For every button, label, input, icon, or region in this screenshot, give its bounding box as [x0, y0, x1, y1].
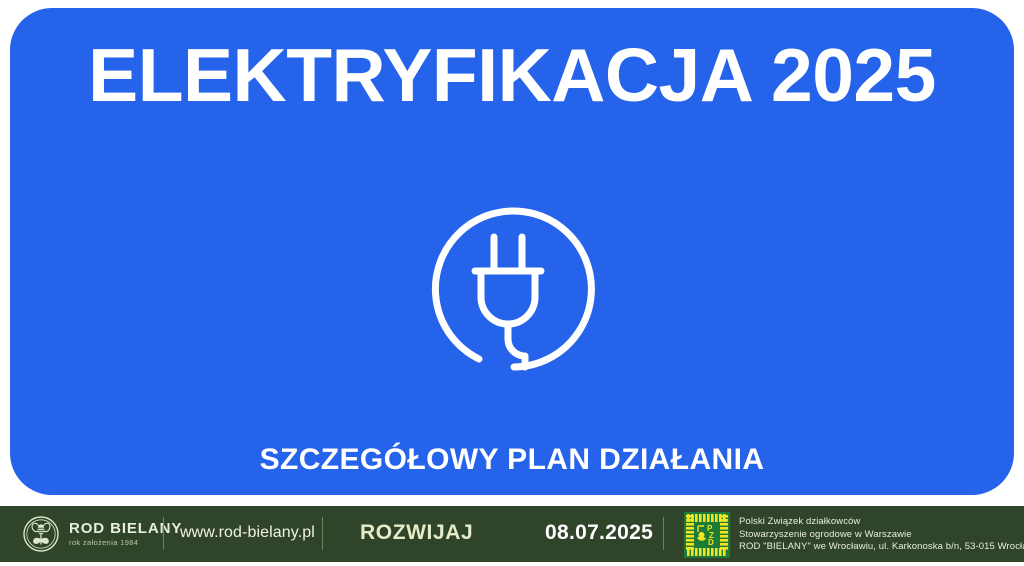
- slide-canvas: ELEKTRYFIKACJA 2025 SZCZEGÓŁOWY PLAN DZI…: [0, 0, 1024, 566]
- svg-text:D: D: [708, 538, 714, 547]
- footer-keyword: ROZWIJAJ: [360, 521, 473, 545]
- power-plug-icon: [417, 189, 607, 379]
- pzd-org-block: P Z D Polski Związek działkowców Stowarz…: [684, 512, 1024, 558]
- org-line-3: ROD "BIELANY" we Wrocławiu, ul. Karkonos…: [739, 541, 1024, 554]
- hero-icon-container: [10, 186, 1014, 382]
- pzd-logo-icon: P Z D: [684, 512, 730, 558]
- org-line-1: Polski Związek działkowców: [739, 516, 1024, 529]
- rod-bielany-brand: ROD BIELANY rok założenia 1984: [22, 514, 182, 554]
- footer-divider-2: [322, 517, 323, 550]
- page-subtitle: SZCZEGÓŁOWY PLAN DZIAŁANIA: [10, 440, 1014, 480]
- footer-date: 08.07.2025: [545, 521, 653, 545]
- brand-name: ROD BIELANY: [69, 521, 182, 536]
- website-url[interactable]: www.rod-bielany.pl: [180, 524, 315, 542]
- footer-divider-3: [663, 517, 664, 550]
- footer-divider-1: [163, 517, 164, 550]
- org-line-2: Stowarzyszenie ogrodowe w Warszawie: [739, 529, 1024, 542]
- brand-tagline: rok założenia 1984: [69, 539, 182, 547]
- main-blue-panel: ELEKTRYFIKACJA 2025 SZCZEGÓŁOWY PLAN DZI…: [10, 8, 1014, 495]
- page-title: ELEKTRYFIKACJA 2025: [10, 30, 1014, 120]
- pzd-org-lines: Polski Związek działkowców Stowarzyszeni…: [739, 516, 1024, 554]
- bee-emblem-icon: [22, 515, 60, 553]
- brand-text-group: ROD BIELANY rok założenia 1984: [69, 521, 182, 547]
- footer-bottom-strip: [0, 562, 1024, 566]
